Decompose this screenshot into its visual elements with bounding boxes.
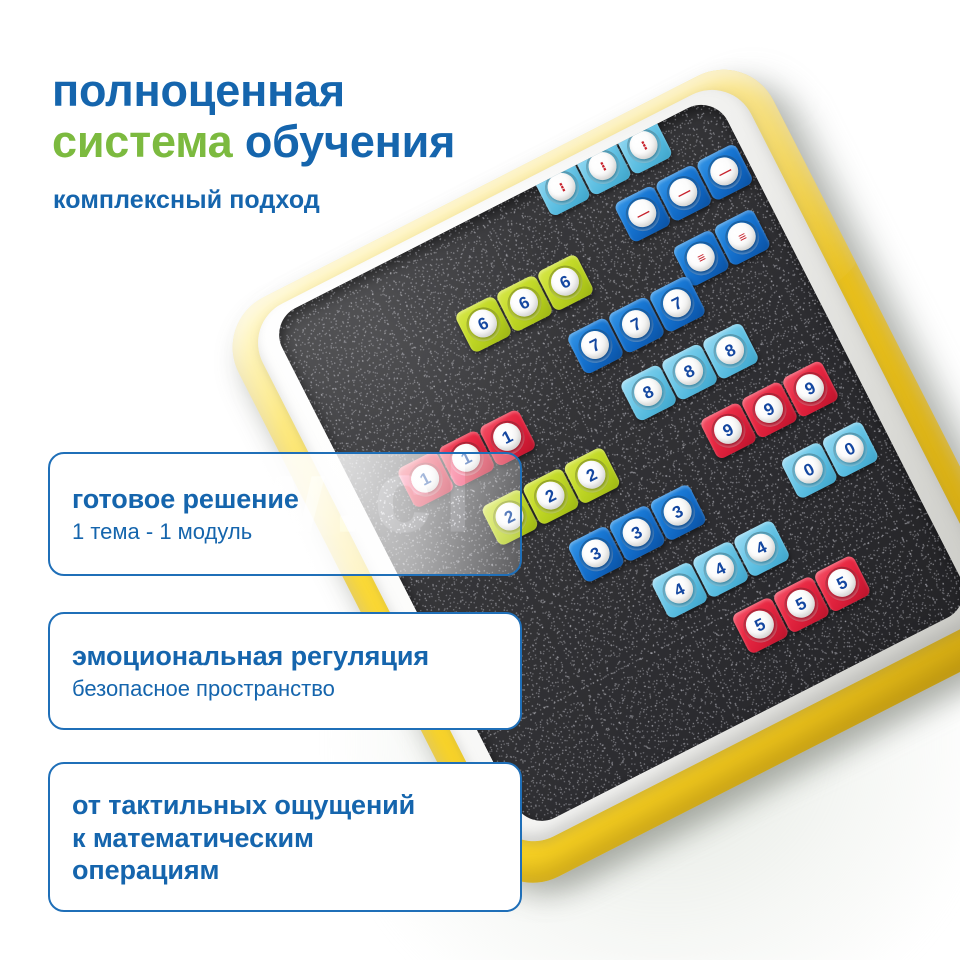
cube-face: 8 (629, 373, 667, 411)
feature-card-subtitle: 1 тема - 1 модуль (72, 519, 500, 545)
feature-card-subtitle: безопасное пространство (72, 676, 500, 702)
cube-face: 3 (618, 514, 656, 552)
headline-accent-word: система (52, 116, 233, 167)
page-subtitle: комплексный подход (53, 186, 320, 215)
cube-face: 7 (617, 305, 655, 343)
headline-line-2: система обучения (52, 117, 672, 168)
cube-face: 8 (670, 352, 708, 390)
page-title: полноценная система обучения (52, 66, 672, 168)
cube-face: 5 (782, 585, 820, 623)
cube-face: 6 (546, 263, 584, 301)
cube-face: 4 (742, 529, 780, 567)
cube-face: — (623, 194, 661, 232)
cube-face: ≡ (723, 218, 761, 256)
cube-face: ≡ (682, 239, 720, 277)
cube-face: — (664, 173, 702, 211)
feature-card-ready-solution[interactable]: готовое решение 1 тема - 1 модуль (48, 452, 522, 576)
cube-face: 4 (660, 571, 698, 609)
cube-face: 1 (488, 418, 526, 456)
cube-face: 5 (741, 606, 779, 644)
feature-card-tactile-to-math[interactable]: от тактильных ощущений к математическим … (48, 762, 522, 912)
cube-face: 7 (576, 326, 614, 364)
cube-face: 9 (709, 411, 747, 449)
headline-line-1: полноценная (52, 66, 672, 117)
headline-line-2-rest: обучения (233, 116, 456, 167)
cube-face: 0 (831, 430, 869, 468)
cube-face: 5 (823, 564, 861, 602)
cube-face: 0 (790, 451, 828, 489)
cube-face: 9 (750, 390, 788, 428)
feature-card-title: готовое решение (72, 484, 500, 515)
feature-card-emotional-regulation[interactable]: эмоциональная регуляция безопасное прост… (48, 612, 522, 730)
cube-face: 6 (505, 284, 543, 322)
cube-face: 9 (791, 369, 829, 407)
cube-face: 7 (658, 284, 696, 322)
feature-card-title: от тактильных ощущений к математическим … (72, 789, 500, 886)
cube-face: 3 (577, 535, 615, 573)
cube-face: 8 (711, 331, 749, 369)
cube-face: — (705, 153, 743, 191)
cube-face: 2 (532, 477, 570, 515)
cube-face: 2 (573, 456, 611, 494)
poster-canvas: ⁝ ⁝ ⁝ — — — 6 6 6 ≡ ≡ 7 (0, 0, 960, 960)
cube-face: 3 (659, 493, 697, 531)
feature-card-title: эмоциональная регуляция (72, 641, 500, 672)
cube-face: 4 (701, 550, 739, 588)
cube-face: 6 (464, 305, 502, 343)
